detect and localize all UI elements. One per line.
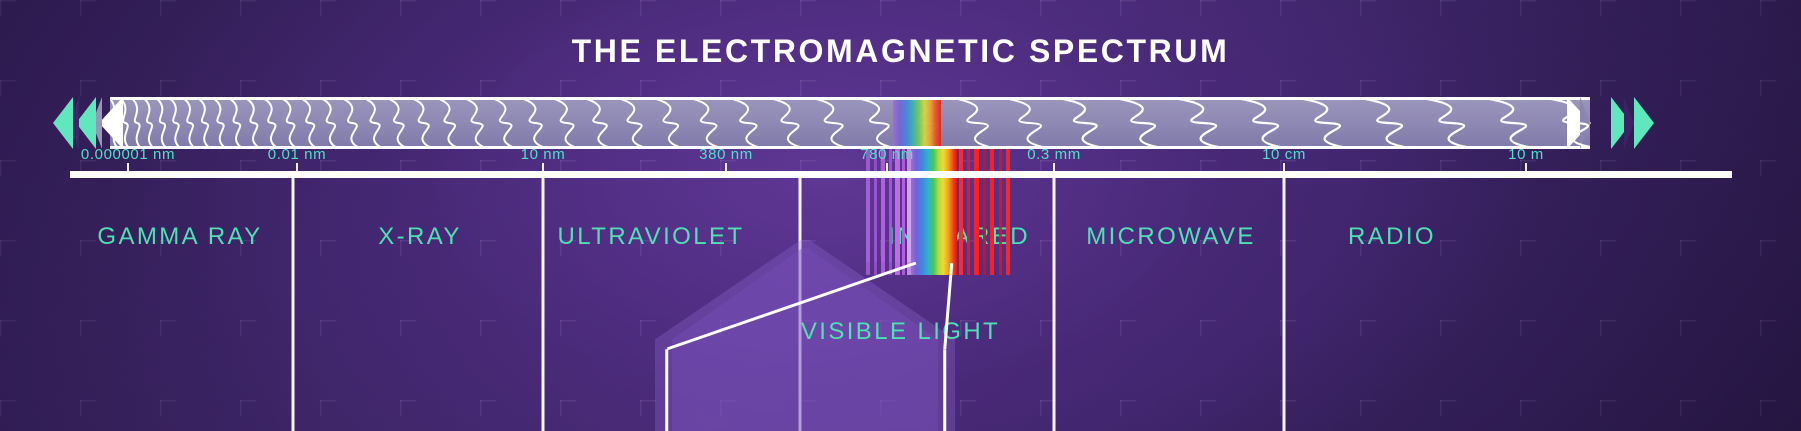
scale-label: 0.000001 nm <box>81 146 175 163</box>
ray-segment <box>881 178 885 262</box>
scale-label: 10 cm <box>1262 146 1306 163</box>
scale-label: 0.3 mm <box>1027 146 1081 163</box>
scale-tick <box>542 163 544 172</box>
chevron-right-notch-b <box>1624 97 1634 149</box>
spectrum-bar <box>0 97 1801 149</box>
ray-segment <box>990 178 994 262</box>
scale-label: 10 nm <box>521 146 566 163</box>
ray-segment <box>902 178 905 262</box>
ray-segment <box>895 178 900 262</box>
scale-label: 780 nm <box>860 146 914 163</box>
ray-segment <box>874 178 877 262</box>
scale-label: 0.01 nm <box>268 146 326 163</box>
visible-light-band-in-bar <box>893 100 941 146</box>
ray-segment <box>999 178 1002 262</box>
scale-tick <box>886 163 888 172</box>
waveform-pattern <box>110 100 1590 146</box>
chevron-right-mint-b <box>1634 97 1654 149</box>
scale-tick <box>127 163 129 172</box>
scale-label: 380 nm <box>699 146 753 163</box>
scale-tick <box>1525 163 1527 172</box>
chevron-left-mint-b <box>53 97 73 149</box>
ray-segment <box>967 178 970 262</box>
visible-light-funnel: VISIBLE LIGHT <box>0 240 1801 431</box>
infographic-canvas: THE ELECTROMAGNETIC SPECTRUM 0.000001 nm… <box>0 0 1801 431</box>
ray-segment <box>1006 178 1010 262</box>
visible-light-label: VISIBLE LIGHT <box>0 318 1801 346</box>
scale-tick <box>1053 163 1055 172</box>
scale-tick <box>725 163 727 172</box>
ray-segment <box>866 178 870 262</box>
page-title: THE ELECTROMAGNETIC SPECTRUM <box>0 33 1801 70</box>
scale-tick <box>1283 163 1285 172</box>
ray-segment <box>974 178 979 262</box>
scale-divider-line <box>70 171 1732 178</box>
ray-segment <box>959 178 963 262</box>
scale-tick <box>296 163 298 172</box>
scale-label: 10 m <box>1508 146 1544 163</box>
chevron-left-mint-a <box>76 97 96 149</box>
visible-light-rays-lower <box>0 178 1801 262</box>
funnel-outline <box>666 349 669 431</box>
ray-rainbow-core-lower <box>911 178 957 262</box>
funnel-outline <box>944 349 947 431</box>
ray-segment <box>983 178 986 262</box>
ray-segment <box>889 178 892 262</box>
